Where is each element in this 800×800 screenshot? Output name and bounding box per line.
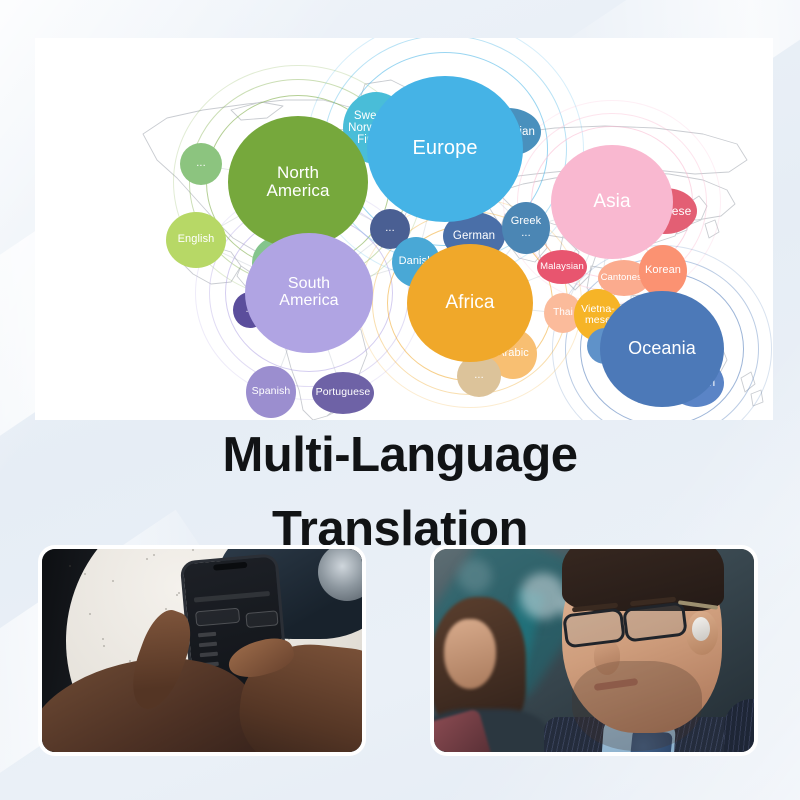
phone-notch [213, 562, 247, 571]
source-text-field [195, 608, 240, 627]
language-bubble-spanish-sa[interactable]: Spanish [246, 366, 296, 418]
language-bubble-malaysian[interactable]: Malaysian [537, 250, 587, 284]
table-texture-speck [153, 554, 155, 556]
table-texture-speck [178, 592, 180, 594]
region-bubble-south-america[interactable]: South America [245, 233, 373, 353]
bokeh-light [520, 573, 566, 619]
region-bubble-north-america[interactable]: North America [228, 116, 368, 248]
table-texture-speck [146, 558, 148, 560]
background-person-face [444, 619, 496, 689]
language-bubble-english-na[interactable]: English [166, 212, 226, 268]
language-bubble-na-more[interactable]: ... [180, 143, 222, 185]
table-texture-speck [103, 645, 105, 647]
table-texture-speck [112, 580, 114, 582]
language-list-item [199, 642, 217, 648]
table-texture-speck [176, 594, 178, 596]
language-list-item [200, 652, 218, 658]
region-bubble-africa[interactable]: Africa [407, 244, 533, 362]
photo-phone-translation [38, 545, 366, 756]
region-bubble-europe[interactable]: Europe [367, 76, 523, 223]
table-texture-speck [102, 638, 104, 640]
world-map-panel: ...EnglishFrenchSpanishSwedish Norwegian… [35, 38, 773, 420]
language-bubble-portuguese[interactable]: Portuguese [312, 372, 374, 414]
table-texture-speck [84, 573, 86, 575]
man-beard [572, 661, 702, 751]
app-header-bar [194, 591, 270, 603]
table-texture-speck [89, 613, 91, 615]
page-title-line-1: Multi-Language [0, 418, 800, 492]
nose [594, 641, 620, 675]
promo-page: ...EnglishFrenchSpanishSwedish Norwegian… [0, 0, 800, 800]
translation-earbud [692, 617, 710, 641]
region-bubble-oceania[interactable]: Oceania [600, 291, 724, 408]
language-bubble-greek[interactable]: Greek ... [502, 202, 550, 254]
language-list-item [198, 632, 216, 638]
language-bubble-korean[interactable]: Korean [639, 245, 687, 297]
region-bubble-asia[interactable]: Asia [551, 145, 673, 260]
table-texture-speck [192, 549, 194, 551]
photo-man-earbud [430, 545, 758, 756]
bokeh-light [458, 559, 492, 593]
eyeglasses-lens-left [562, 607, 626, 648]
language-bubble-layer: ...EnglishFrenchSpanishSwedish Norwegian… [35, 38, 773, 420]
target-text-field [245, 610, 278, 628]
